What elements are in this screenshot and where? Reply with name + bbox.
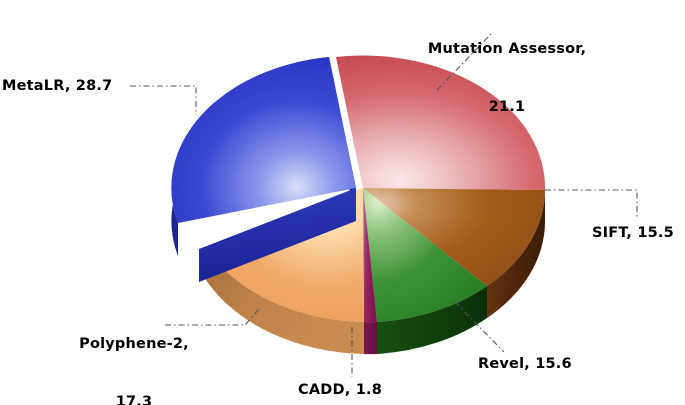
pie-chart-figure: Mutation Assessor, 21.1 MetaLR, 28.7 SIF… (0, 0, 685, 405)
slice-label-mutation-assessor: Mutation Assessor, 21.1 (412, 2, 602, 155)
slice-label-cadd: CADD, 1.8 (298, 381, 418, 400)
slice-top-metalr (171, 57, 356, 223)
slice-label-polyphene-2-line2: 17.3 (68, 393, 200, 405)
slice-side-cadd (364, 322, 377, 354)
slice-label-mutation-assessor-line2: 21.1 (412, 98, 602, 117)
slice-label-sift: SIFT, 15.5 (592, 224, 684, 243)
leader-line-sift (545, 190, 637, 219)
slice-label-revel: Revel, 15.6 (478, 355, 598, 374)
slice-label-polyphene-2: Polyphene-2, 17.3 (68, 297, 200, 405)
slice-label-metalr: MetaLR, 28.7 (2, 77, 142, 96)
slice-label-polyphene-2-line1: Polyphene-2, (68, 335, 200, 354)
slice-label-mutation-assessor-line1: Mutation Assessor, (412, 40, 602, 59)
